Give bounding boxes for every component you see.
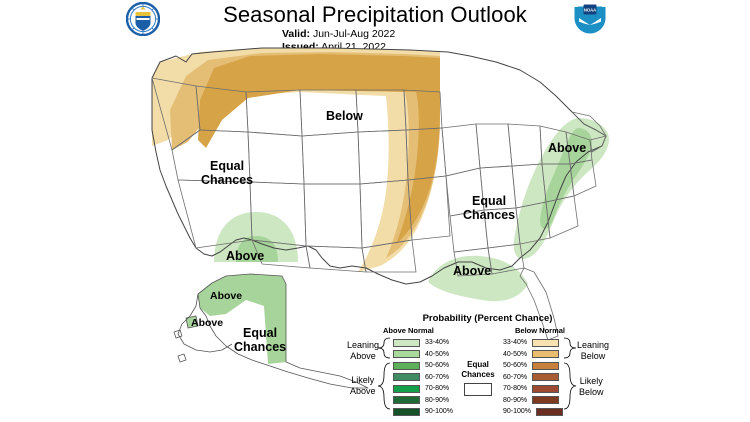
map-label-above-gulf-coast: Above	[453, 265, 491, 279]
legend-range-label: 50-60%	[425, 362, 449, 369]
legend-color-swatch	[393, 396, 420, 404]
map-label-above-alaska-west: Above	[191, 318, 223, 330]
legend-swatch-row: 80-90%	[393, 395, 453, 406]
legend-range-label: 40-50%	[503, 351, 527, 358]
legend-range-label: 80-90%	[425, 397, 449, 404]
below-normal-shading-group	[152, 48, 440, 272]
map-label-above-alaska-north: Above	[210, 291, 242, 303]
legend-likely-above-label: LikelyAbove	[350, 375, 376, 396]
legend-leaning-below-label: LeaningBelow	[577, 340, 609, 361]
legend-range-label: 90-100%	[503, 408, 531, 415]
map-label-equal-chances-southeast: EqualChances	[463, 195, 515, 222]
legend-swatch-row: 60-70%	[503, 372, 563, 383]
probability-legend: Probability (Percent Chance) Above Norma…	[355, 313, 620, 421]
legend-above-swatch-column: 33-40%40-50%50-60%60-70%70-80%80-90%90-1…	[393, 337, 453, 418]
legend-range-label: 90-100%	[425, 408, 453, 415]
legend-swatch-row: 40-50%	[393, 349, 453, 360]
map-label-equal-chances-alaska: EqualChances	[234, 327, 286, 354]
legend-swatch-row: 40-50%	[503, 349, 563, 360]
legend-equal-chances-line1: Equal	[453, 360, 503, 370]
legend-color-swatch	[393, 373, 420, 381]
legend-likely-below-label: LikelyBelow	[579, 376, 604, 397]
legend-equal-chances-block: Equal Chances	[453, 360, 503, 396]
legend-below-normal-header: Below Normal	[515, 326, 565, 335]
legend-range-label: 70-80%	[503, 385, 527, 392]
legend-above-normal-header: Above Normal	[383, 326, 434, 335]
legend-color-swatch	[532, 350, 559, 358]
legend-equal-chances-swatch	[464, 383, 492, 396]
legend-swatch-row: 50-60%	[503, 360, 563, 371]
legend-swatch-row: 90-100%	[503, 406, 563, 417]
legend-range-label: 40-50%	[425, 351, 449, 358]
legend-swatch-row: 70-80%	[393, 383, 453, 394]
legend-bracket-below-icon	[563, 337, 577, 421]
legend-range-label: 80-90%	[503, 397, 527, 404]
legend-color-swatch	[393, 362, 420, 370]
legend-below-swatch-column: 33-40%40-50%50-60%60-70%70-80%80-90%90-1…	[503, 337, 563, 418]
legend-range-label: 33-40%	[503, 339, 527, 346]
map-label-below-northern-plains: Below	[326, 110, 363, 124]
legend-swatch-row: 80-90%	[503, 395, 563, 406]
legend-swatch-row: 70-80%	[503, 383, 563, 394]
legend-swatch-row: 90-100%	[393, 406, 453, 417]
legend-range-label: 33-40%	[425, 339, 449, 346]
legend-range-label: 50-60%	[503, 362, 527, 369]
outlook-page: Seasonal Precipitation Outlook Valid: Ju…	[0, 0, 750, 422]
legend-color-swatch	[536, 408, 563, 416]
legend-swatch-row: 50-60%	[393, 360, 453, 371]
legend-color-swatch	[393, 385, 420, 393]
legend-bracket-above-icon	[377, 337, 391, 421]
map-label-equal-chances-southwest: EqualChances	[201, 160, 253, 187]
legend-color-swatch	[532, 362, 559, 370]
map-label-above-four-corners: Above	[226, 250, 264, 264]
legend-range-label: 60-70%	[425, 374, 449, 381]
legend-color-swatch	[393, 339, 420, 347]
legend-equal-chances-line2: Chances	[453, 370, 503, 380]
legend-color-swatch	[532, 339, 559, 347]
legend-swatch-row: 33-40%	[393, 337, 453, 348]
legend-swatch-row: 33-40%	[503, 337, 563, 348]
legend-color-swatch	[532, 396, 559, 404]
legend-color-swatch	[532, 373, 559, 381]
legend-color-swatch	[532, 385, 559, 393]
legend-title: Probability (Percent Chance)	[355, 313, 620, 324]
legend-swatch-row: 60-70%	[393, 372, 453, 383]
legend-leaning-above-label: LeaningAbove	[347, 340, 379, 361]
legend-color-swatch	[393, 408, 420, 416]
legend-range-label: 60-70%	[503, 374, 527, 381]
legend-color-swatch	[393, 350, 420, 358]
legend-range-label: 70-80%	[425, 385, 449, 392]
map-label-above-northeast: Above	[548, 142, 586, 156]
